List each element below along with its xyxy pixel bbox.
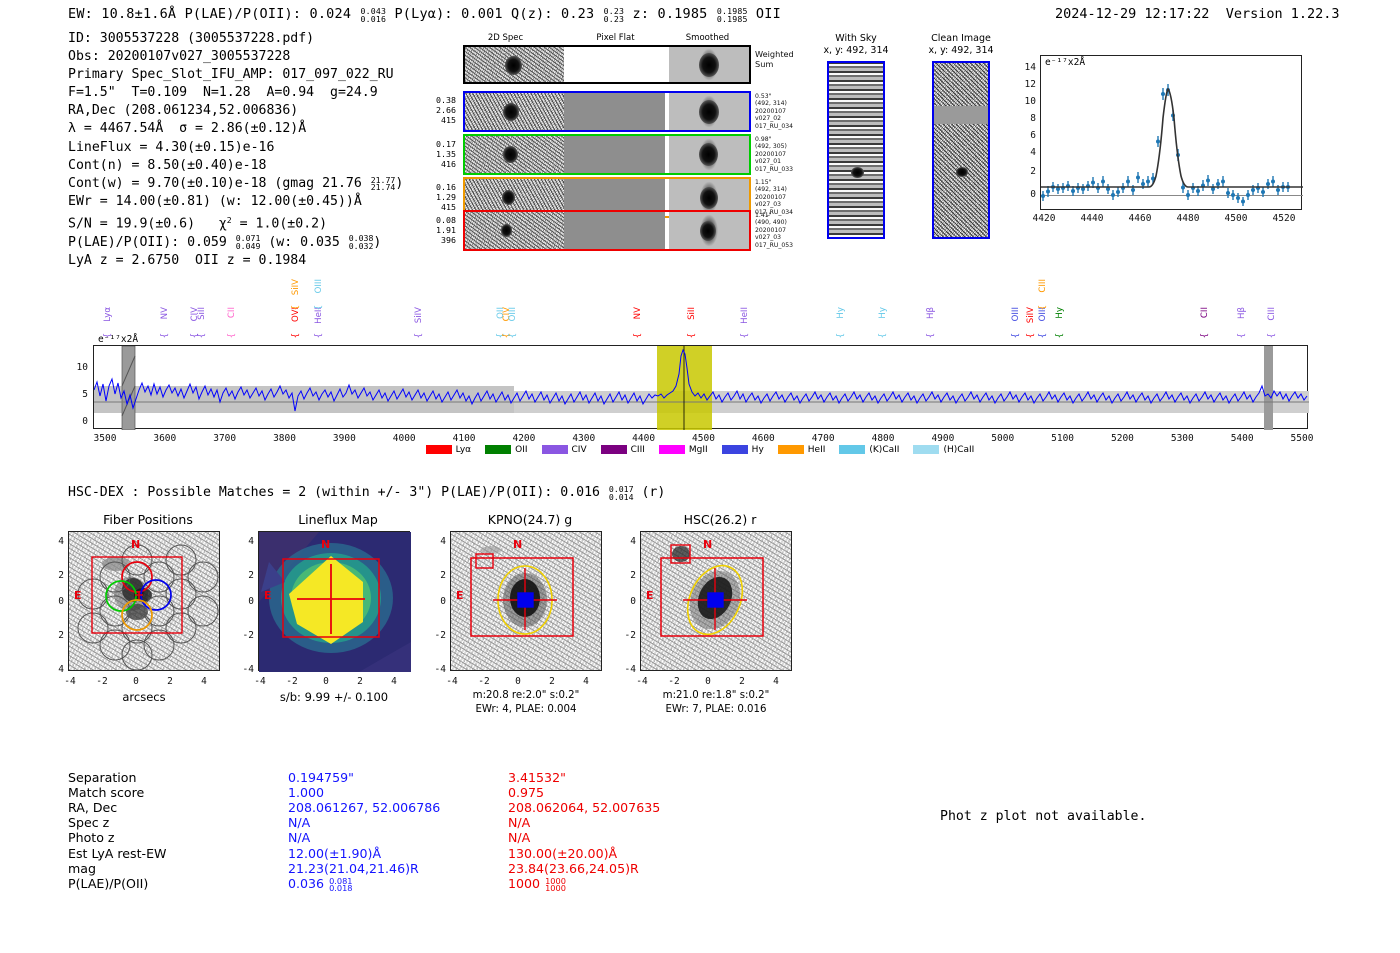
zoom-xtick-4440: 4440 [1074,213,1110,224]
spec-row-2 [463,134,751,175]
smoothed-blob [699,53,719,77]
row1-pixel-flat-image [564,93,665,130]
match1-value-7-fraction: 0.0810.018 [329,878,352,894]
info-plae: P(LAE)/P(OII): 0.059 0.0710.049 (w: 0.03… [68,234,403,252]
with-sky-image [827,61,885,239]
weighted-sum-label: Weighted Sum [755,50,794,69]
source-info-block: ID: 3005537228 (3005537228.pdf) Obs: 202… [68,30,403,270]
emission-line-brace: { [314,305,324,310]
version-text: Version 1.22.3 [1226,6,1340,22]
source-blob [503,146,518,163]
north-label: N [703,538,712,551]
emission-line-label-heii: HeII [740,307,750,324]
legend-item-ciii: CIII [601,445,645,455]
emission-line-markers: Lyα{NV{CIV{SiII{CII{OVI{SiIV{HeII{OIII{S… [93,275,1308,345]
spectrum-xtick-5200: 5200 [1102,433,1142,444]
kpno-ytick-0: 0 [426,596,446,607]
emission-line-label-oiii: OIII [314,279,324,293]
qz-fraction: 0.230.23 [604,8,625,24]
spectrum-xtick-3900: 3900 [324,433,364,444]
fiber-ytick-2: 2 [44,570,64,581]
kpno-g-caption-2: EWr: 4, PLAE: 0.004 [440,704,612,715]
zoom-ytick-14: 14 [1012,62,1036,73]
zoom-ytick-6: 6 [1016,130,1036,141]
emission-line-brace: { [291,305,301,310]
lineflux-map-title: Lineflux Map [248,512,428,527]
emission-line-label-ciii: CIII [1267,307,1277,321]
legend-label: MgII [689,445,708,455]
lineflux-map-plot: N E [258,531,410,671]
spectrum-ylabel: e⁻¹⁷x2Å [98,334,138,345]
legend-label: (K)CaII [869,445,899,455]
source-blob [502,190,515,205]
match2-value-4: N/A [508,830,530,845]
info-ewr: EWr = 14.00(±0.81) (w: 12.00(±0.45))Å [68,193,403,211]
emission-line-label-hβ: Hβ [1237,307,1247,319]
spectrum-xtick-5000: 5000 [983,433,1023,444]
zoom-xtick-4520: 4520 [1266,213,1302,224]
timestamp-text: 2024-12-29 12:17:22 [1055,6,1209,22]
spec-row-4 [463,210,751,251]
kpno-ytick-m2: -2 [422,630,446,641]
source-blob [503,103,519,121]
info-primary-spec: Primary Spec_Slot_IFU_AMP: 017_097_022_R… [68,66,403,84]
info-seeing: F=1.5" T=0.109 N=1.28 A=0.94 g=24.9 [68,84,403,102]
kpno-g-title: KPNO(24.7) g [440,512,620,527]
emission-line-label-hy: Hy [836,307,846,319]
kpno-xtick-4: 4 [574,676,598,687]
emission-line-label-cii: CII [1200,307,1210,318]
zoom-xtick-4500: 4500 [1218,213,1254,224]
emission-line-brace: { [414,333,424,338]
spectrum-xtick-4100: 4100 [444,433,484,444]
emission-line-brace: { [836,333,846,338]
spec-ytick-0: 0 [60,416,88,427]
hsc-xtick-4: 4 [764,676,788,687]
emission-line-brace: { [1038,333,1048,338]
legend-swatch [426,445,452,454]
hsc-ytick-m4: -4 [612,664,636,675]
legend-item-kcaii: (K)CaII [839,445,899,455]
hsc-overlay-svg [641,532,793,672]
emission-line-label-oiii: OIII [508,307,518,321]
row-label-3: 0.161.29415 [428,182,456,213]
weighted-sum-row [463,45,751,84]
emission-line-label-siiv: SiIV [291,279,301,295]
with-sky-title: With Skyx, y: 492, 314 [818,33,894,57]
source-blob [505,56,522,75]
match1-value-4: N/A [288,830,310,845]
fiber-ytick-0: 0 [44,596,64,607]
legend-item-hy: Hy [722,445,764,455]
header-summary-mid: P(Lyα): 0.001 Q(z): 0.23 [386,6,603,22]
kpno-ytick-2: 2 [426,570,446,581]
lfmap-xtick-4: 4 [382,676,406,687]
hsc-ytick-m2: -2 [612,630,636,641]
match-row-label-1: Match score [68,785,144,800]
match-row-label-7: P(LAE)/P(OII) [68,876,148,891]
sky-source-blob [851,167,864,178]
kpno-g-plot: N E [450,531,602,671]
kpno-ytick-m4: -4 [422,664,446,675]
emission-line-label-lyα: Lyα [103,307,113,322]
match1-value-1: 1.000 [288,785,324,800]
clean-image-title: Clean Imagex, y: 492, 314 [918,33,1004,57]
z-fraction: 0.19850.1985 [717,8,748,24]
full-spectrum-plot: e⁻¹⁷x2Å [93,345,1308,429]
row1-2d-spec-image [465,93,564,130]
emission-line-brace: { [1011,333,1021,338]
col-title-2d-spec: 2D Spec [463,33,548,43]
emission-line-label-siiv: SiIV [414,307,424,323]
match-row-label-3: Spec z [68,815,109,830]
match-row-label-5: Est LyA rest-EW [68,846,167,861]
legend-label: HeII [808,445,826,455]
legend-swatch [659,445,685,454]
smoothed-blob [700,187,718,209]
spectrum-xtick-5300: 5300 [1162,433,1202,444]
hsc-ytick-2: 2 [616,570,636,581]
info-sn-chi2: S/N = 19.9(±0.6) χ2 = 1.0(±0.2) [68,211,403,234]
header-timestamp-version: 2024-12-29 12:17:22 Version 1.22.3 [1055,6,1340,22]
info-lineflux: LineFlux = 4.30(±0.15)e-16 [68,139,403,157]
legend-item-heii: HeII [778,445,826,455]
row4-smoothed-image [669,212,749,249]
emission-line-brace: { [197,333,207,338]
clean-image [932,61,990,239]
clean-masked-band [934,106,988,124]
emission-line-brace: { [1237,333,1247,338]
spectrum-xtick-4600: 4600 [743,433,783,444]
legend-label: CIV [572,445,587,455]
spectrum-xtick-4800: 4800 [863,433,903,444]
info-cont-n: Cont(n) = 8.50(±0.40)e-18 [68,157,403,175]
emission-line-label-oiii: OIII [1011,307,1021,321]
zoom-ytick-12: 12 [1012,79,1036,90]
legend-swatch [485,445,511,454]
emission-line-label-hβ: Hβ [926,307,936,319]
weighted-pixel-flat-image [564,47,665,82]
match-row-label-6: mag [68,861,96,876]
fiber-overlay-svg [69,532,221,672]
emission-line-brace: { [508,333,518,338]
lineflux-map-svg [259,532,411,672]
lfmap-xtick-m2: -2 [280,676,304,687]
spectrum-xtick-4200: 4200 [504,433,544,444]
weighted-smoothed-image [669,47,749,82]
east-label: E [646,589,654,602]
legend-swatch [542,445,568,454]
legend-label: Hy [752,445,764,455]
row2-smoothed-image [669,136,749,173]
legend-label: OII [515,445,527,455]
plae-fraction-header: 0.0430.016 [360,8,386,24]
zoom-ytick-4: 4 [1016,147,1036,158]
fiber-positions-caption: arcsecs [68,690,220,704]
emission-line-label-siii: SiII [197,307,207,320]
lfmap-ytick-m4: -4 [230,664,254,675]
hsc-xtick-2: 2 [730,676,754,687]
emission-line-brace: { [1055,333,1065,338]
hsc-ytick-0: 0 [616,596,636,607]
fiber-positions-title: Fiber Positions [58,512,238,527]
spec-ytick-5: 5 [60,389,88,400]
legend-label: CIII [631,445,645,455]
lfmap-xtick-0: 0 [314,676,338,687]
spectrum-xtick-3700: 3700 [205,433,245,444]
hsc-xtick-0: 0 [696,676,720,687]
header-summary-z: z: 0.1985 [624,6,716,22]
spectrum-xtick-4700: 4700 [803,433,843,444]
source-blob [501,224,512,237]
gmag-fraction: 21.7721.74 [371,177,396,193]
row-label-2: 0.171.35416 [428,139,456,170]
match-row-label-2: RA, Dec [68,800,117,815]
emission-line-label-siiv: SiIV [1026,307,1036,323]
hsc-r-caption-1: m:21.0 re:1.8" s:0.2" [630,690,802,701]
kpno-overlay-svg [451,532,603,672]
east-label: E [74,589,82,602]
col-title-smoothed: Smoothed [665,33,750,43]
lfmap-ytick-0: 0 [234,596,254,607]
row4-2d-spec-image [465,212,564,249]
legend-swatch [839,445,865,454]
fiber-ytick-m2: 2 [44,630,64,641]
east-label: E [456,589,464,602]
match2-value-2: 208.062064, 52.007635 [508,800,660,815]
north-label: N [131,538,140,551]
header-summary-suffix: OII [748,6,781,22]
spectrum-xtick-4000: 4000 [384,433,424,444]
hsc-r-plot: N E [640,531,792,671]
fiber-xtick-2: 2 [158,676,182,687]
clean-source-blob [956,167,968,177]
match1-value-5: 12.00(±1.90)Å [288,846,381,861]
plae-fraction-2: 0.0380.032 [349,235,374,251]
emission-line-brace: { [687,333,697,338]
spectrum-xtick-3500: 3500 [85,433,125,444]
info-redshifts: LyA z = 2.6750 OII z = 0.1984 [68,252,403,270]
fiber-xtick-m2: -2 [90,676,114,687]
spectrum-xtick-4900: 4900 [923,433,963,444]
hsc-xtick-m4: -4 [630,676,654,687]
kpno-ytick-4: 4 [426,536,446,547]
spectrum-xtick-4400: 4400 [624,433,664,444]
match2-value-0: 3.41532" [508,770,566,785]
row2-metadata: 0.98"(492, 305)20200107v027_01017_RU_033 [755,136,793,173]
spectrum-xtick-3800: 3800 [265,433,305,444]
emission-line-brace: { [926,333,936,338]
spectrum-xtick-3600: 3600 [145,433,185,444]
match1-value-2: 208.061267, 52.006786 [288,800,440,815]
match2-value-7: 1000 10001000 [508,876,566,893]
legend-item-oii: OII [485,445,527,455]
hsc-xtick-m2: -2 [662,676,686,687]
info-lambda-sigma: λ = 4467.54Å σ = 2.86(±0.12)Å [68,120,403,138]
emission-line-label-nv: NV [633,307,643,319]
zoom-ytick-10: 10 [1016,96,1036,107]
match1-value-7: 0.036 0.0810.018 [288,876,353,893]
row4-metadata: 1.41"(490, 490)20200107v027_03017_RU_053 [755,212,793,249]
emission-line-brace: { [740,333,750,338]
emission-line-brace: { [633,333,643,338]
match1-value-3: N/A [288,815,310,830]
match2-value-6: 23.84(23.66,24.05)R [508,861,639,876]
info-radec: RA,Dec (208.061234,52.006836) [68,102,403,120]
match2-value-7-fraction: 10001000 [545,878,566,894]
header-summary-prefix: EW: 10.8±1.6Å P(LAE)/P(OII): 0.024 [68,6,359,22]
emission-line-legend: LyαOIICIVCIIIMgIIHyHeII(K)CaII(H)CaII [0,445,1400,455]
match2-value-5: 130.00(±20.00)Å [508,846,617,861]
legend-swatch [601,445,627,454]
header-summary-line: EW: 10.8±1.6Å P(LAE)/P(OII): 0.024 0.043… [68,6,781,23]
lfmap-ytick-4: 4 [234,536,254,547]
fiber-xtick-4: 4 [192,676,216,687]
zoom-line-profile-plot: e⁻¹⁷x2Å [1040,55,1302,210]
fiber-xtick-m4: -4 [58,676,82,687]
east-label: E [264,589,272,602]
lfmap-ytick-m2: -2 [230,630,254,641]
lfmap-ytick-2: 2 [234,570,254,581]
hsc-ytick-4: 4 [616,536,636,547]
emission-line-label-ciii: CIII [1038,279,1048,293]
north-label: N [321,538,330,551]
legend-swatch [778,445,804,454]
row-label-1: 0.382.66415 [428,95,456,126]
emission-line-brace: { [160,333,170,338]
row4-pixel-flat-image [564,212,665,249]
spectrum-svg [94,346,1309,430]
match2-value-3: N/A [508,815,530,830]
emission-line-label-nv: NV [160,307,170,319]
emission-line-label-siii: SiII [687,307,697,320]
row3-metadata: 1.15"(492, 314)20200107v027_03017_RU_034 [755,179,793,216]
hscdex-summary-line: HSC-DEX : Possible Matches = 2 (within +… [68,485,665,501]
info-id: ID: 3005537228 (3005537228.pdf) [68,30,403,48]
legend-item-hcaii: (H)CaII [913,445,974,455]
zoom-xtick-4460: 4460 [1122,213,1158,224]
hscdex-fraction: 0.0170.014 [609,486,634,502]
col-title-pixel-flat: Pixel Flat [573,33,658,43]
plae-fraction-1: 0.0710.049 [236,235,261,251]
row1-smoothed-image [669,93,749,130]
smoothed-blob [700,221,716,241]
fiber-positions-plot: N E [68,531,220,671]
lfmap-xtick-2: 2 [348,676,372,687]
emission-line-label-cii: CII [227,307,237,318]
legend-label: Lyα [456,445,471,455]
photz-note: Phot z plot not available. [940,809,1146,824]
legend-swatch [913,445,939,454]
lfmap-xtick-m4: -4 [248,676,272,687]
emission-line-brace: { [1026,333,1036,338]
legend-item-lyα: Lyα [426,445,471,455]
spectrum-xtick-5400: 5400 [1222,433,1262,444]
zoom-ytick-2: 2 [1016,166,1036,177]
spectrum-xtick-5100: 5100 [1043,433,1083,444]
kpno-xtick-m4: -4 [440,676,464,687]
spectrum-xtick-4300: 4300 [564,433,604,444]
row-label-4: 0.081.91396 [428,215,456,246]
legend-item-civ: CIV [542,445,587,455]
hsc-r-caption-2: EWr: 7, PLAE: 0.016 [630,704,802,715]
kpno-g-caption-1: m:20.8 re:2.0" s:0.2" [440,690,612,701]
zoom-ytick-8: 8 [1016,113,1036,124]
hsc-r-title: HSC(26.2) r [630,512,810,527]
legend-item-mgii: MgII [659,445,708,455]
spec-row-1 [463,91,751,132]
match1-value-0: 0.194759" [288,770,354,785]
smoothed-blob [699,143,718,166]
spectrum-xtick-4500: 4500 [683,433,723,444]
info-cont-w: Cont(w) = 9.70(±0.10)e-18 (gmag 21.76 21… [68,175,403,193]
zoom-plot-svg [1041,56,1303,211]
fiber-xtick-0: 0 [124,676,148,687]
weighted-2d-spec-image [465,47,564,82]
smoothed-blob [699,100,719,124]
lineflux-map-caption: s/b: 9.99 +/- 0.100 [248,690,420,704]
info-obs: Obs: 20200107v027_3005537228 [68,48,403,66]
emission-line-brace: { [878,333,888,338]
match-row-label-4: Photo z [68,830,115,845]
match-row-label-0: Separation [68,770,136,785]
spectrum-xtick-5500: 5500 [1282,433,1322,444]
zoom-ytick-0: 0 [1016,189,1036,200]
match1-value-6: 21.23(21.04,21.46)R [288,861,419,876]
row1-metadata: 0.53"(492, 314)20200107v027_02017_RU_034 [755,93,793,130]
emission-line-brace: { [1200,333,1210,338]
legend-swatch [722,445,748,454]
spec-ytick-10: 10 [60,362,88,373]
emission-line-label-hy: Hy [878,307,888,319]
north-label: N [513,538,522,551]
emission-line-brace: { [1267,333,1277,338]
row2-2d-spec-image [465,136,564,173]
kpno-xtick-0: 0 [506,676,530,687]
kpno-xtick-m2: -2 [472,676,496,687]
row2-pixel-flat-image [564,136,665,173]
fiber-ytick-m4: 4 [44,664,64,675]
emission-line-brace: { [291,333,301,338]
zoom-xtick-4420: 4420 [1026,213,1062,224]
match2-value-1: 0.975 [508,785,544,800]
emission-line-brace: { [1038,305,1048,310]
emission-line-brace: { [314,333,324,338]
emission-line-brace: { [227,333,237,338]
kpno-xtick-2: 2 [540,676,564,687]
emission-line-label-hy: Hy [1055,307,1065,319]
fiber-ytick-4: 4 [44,536,64,547]
legend-label: (H)CaII [943,445,974,455]
zoom-xtick-4480: 4480 [1170,213,1206,224]
